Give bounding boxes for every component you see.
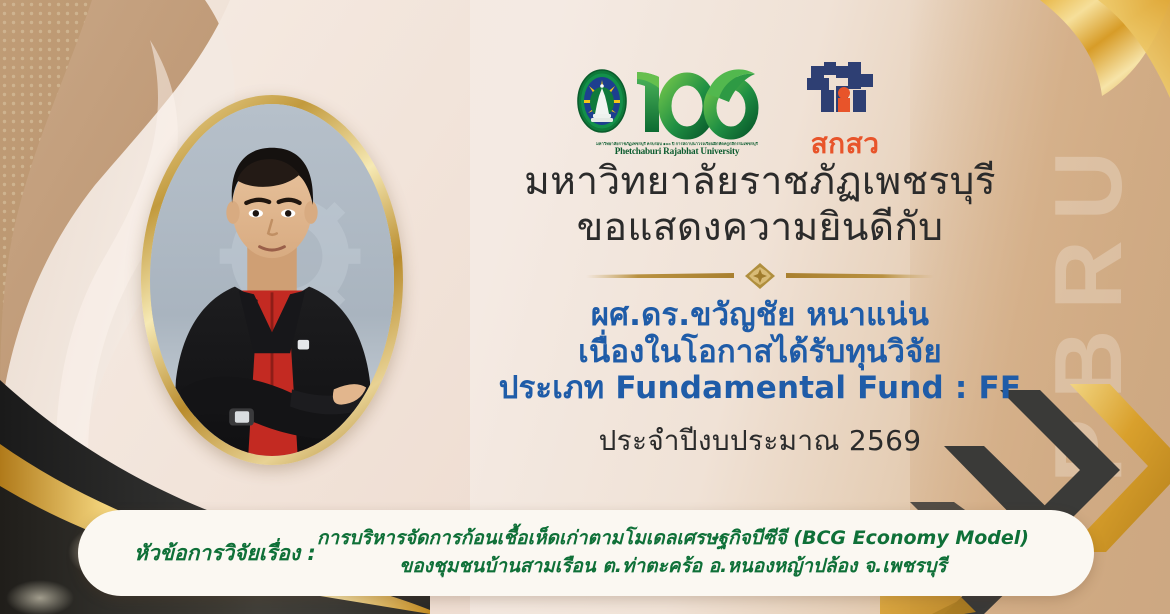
tsri-name-th: สกสว [797, 130, 893, 158]
fiscal-year-text: ประจำปีงบประมาณ 2569 [460, 424, 1060, 458]
research-title-line-1: การบริหารจัดการก้อนเชื้อเห็ดเก่าตามโมเดล… [316, 525, 1030, 553]
divider-diamond-icon [520, 263, 1000, 289]
honoree-portrait [150, 104, 394, 456]
congratulations-text: ขอแสดงความยินดีกับ [460, 204, 1060, 252]
research-title-block: การบริหารจัดการก้อนเชื้อเห็ดเก่าตามโมเดล… [316, 525, 1060, 580]
honoree-portrait-frame [141, 95, 403, 465]
university-title: มหาวิทยาลัยราชภัฏเพชรบุรี [460, 158, 1060, 206]
university-name-en: Phetchaburi Rajabhat University [589, 147, 765, 156]
fund-type-text: ประเภท Fundamental Fund : FF [460, 370, 1060, 407]
occasion-text: เนื่องในโอกาสได้รับทุนวิจัย [460, 334, 1060, 371]
main-text-column: มหาวิทยาลัยราชภัฏเพชรบุรี ขอแสดงความยินด… [460, 158, 1060, 457]
research-label: หัวข้อการวิจัยเรื่อง : [112, 537, 316, 570]
congratulations-banner: PBRU [0, 0, 1170, 614]
top-right-gold-ribbon-icon [980, 0, 1170, 150]
tsri-symbol-icon [807, 60, 883, 126]
anniversary-100-logo: มหาวิทยาลัยราชภัฏเพชรบุรี ครบรอบ ๑๐๐ ปี … [575, 64, 765, 156]
research-title-line-2: ของชุมชนบ้านสามเรือน ต.ท่าตะคร้อ อ.หนองห… [316, 553, 1030, 581]
portrait-illustration-icon [150, 104, 394, 456]
university-name-block: มหาวิทยาลัยราชภัฏเพชรบุรี ครบรอบ ๑๐๐ ปี … [589, 142, 765, 156]
honoree-name: ผศ.ดร.ขวัญชัย หนาแน่น [460, 297, 1060, 334]
gold-divider-ornament [520, 263, 1000, 289]
research-title-box: หัวข้อการวิจัยเรื่อง : การบริหารจัดการก้… [78, 510, 1094, 596]
tsri-logo: สกสว [797, 60, 893, 156]
logo-row: มหาวิทยาลัยราชภัฏเพชรบุรี ครบรอบ ๑๐๐ ปี … [575, 58, 905, 156]
rajabhat-seal-and-100-icon [575, 64, 765, 142]
